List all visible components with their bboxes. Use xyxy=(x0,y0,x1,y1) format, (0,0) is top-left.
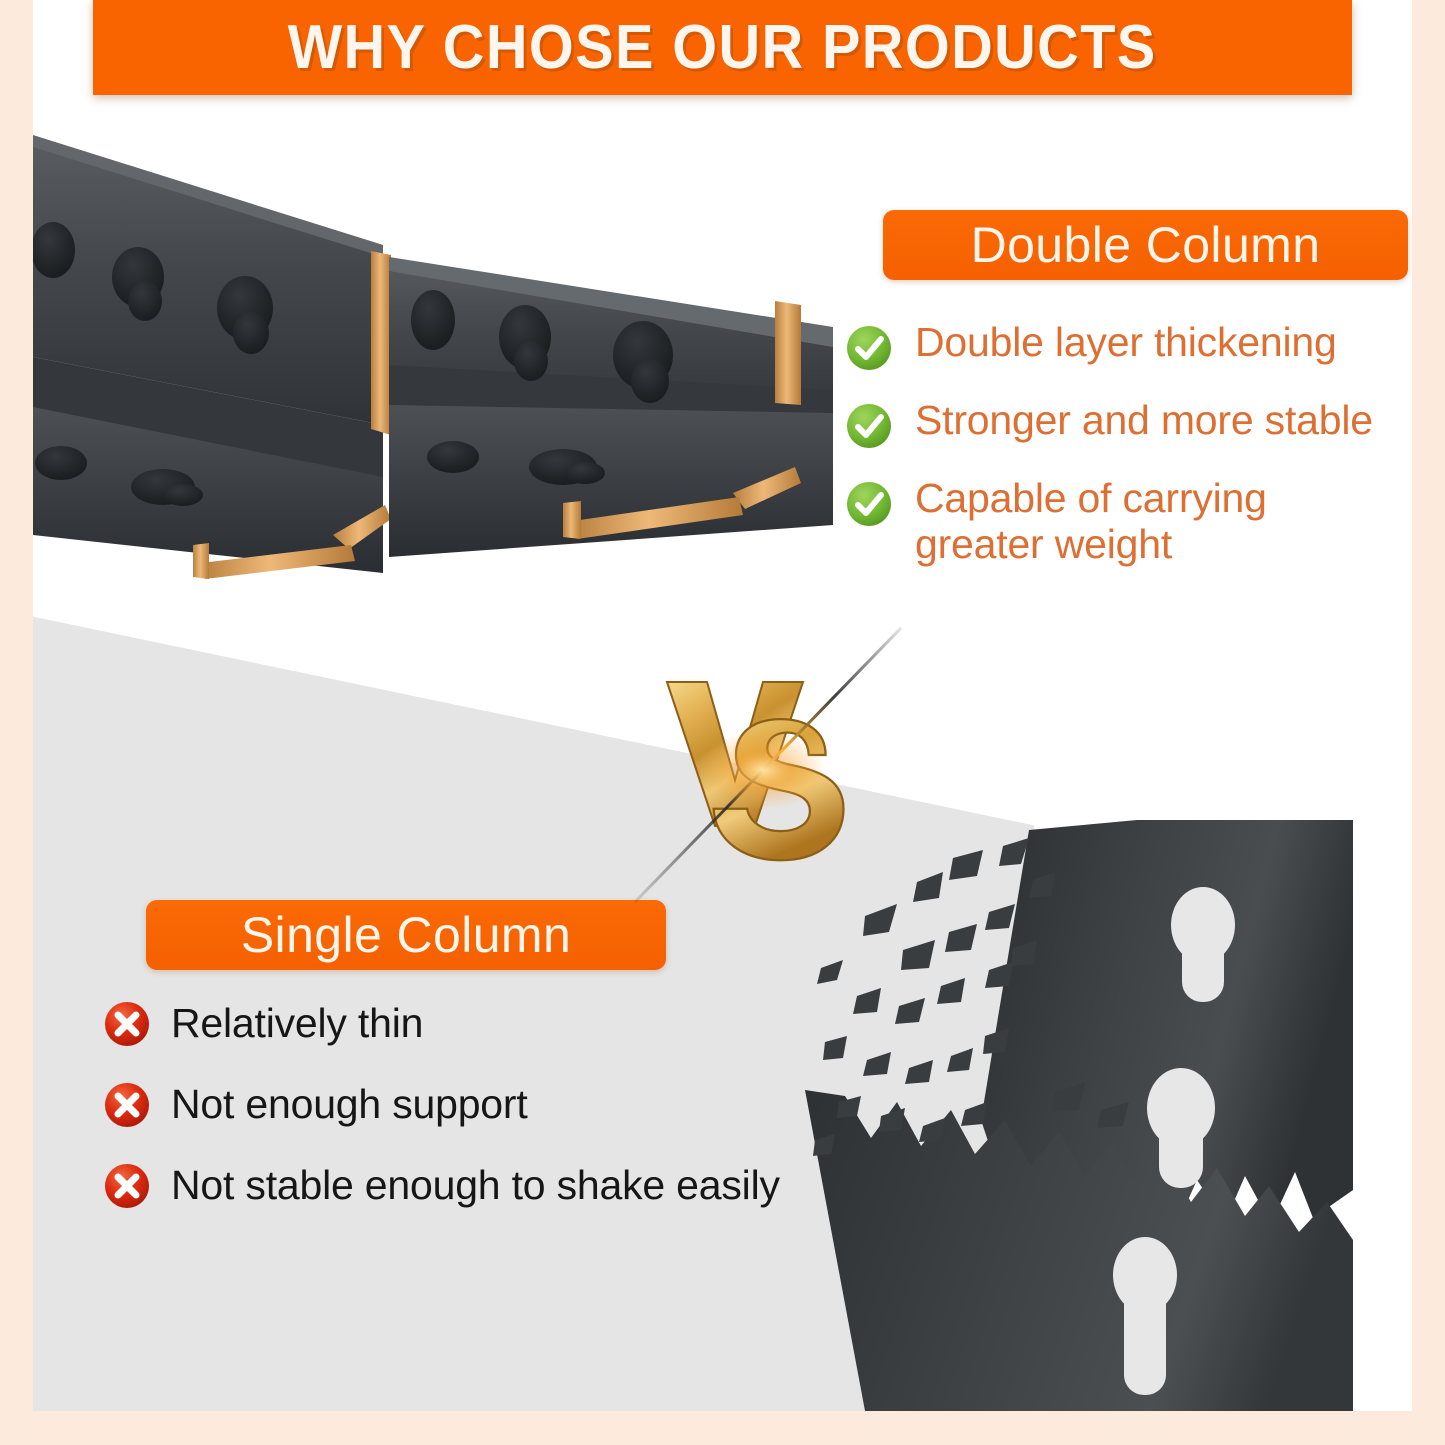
double-beam-illustration xyxy=(33,105,833,625)
list-item-label: Stronger and more stable xyxy=(915,398,1373,444)
page-frame: Double Column Single Column xyxy=(0,0,1445,1445)
double-column-photo xyxy=(33,105,833,625)
list-item-label: Not stable enough to shake easily xyxy=(171,1163,780,1208)
beam-right xyxy=(389,257,833,557)
list-item-label: Not enough support xyxy=(171,1082,528,1127)
vs-flare xyxy=(699,730,827,810)
check-circle-icon xyxy=(845,402,893,450)
list-item: Not enough support xyxy=(103,1081,903,1129)
x-circle-icon xyxy=(103,1081,151,1129)
x-circle-icon xyxy=(103,1000,151,1048)
list-item: Double layer thickening xyxy=(845,320,1412,372)
list-item-label: Double layer thickening xyxy=(915,320,1337,366)
content-canvas: Double Column Single Column xyxy=(33,0,1412,1411)
cons-list: Relatively thin Not enough support xyxy=(103,1000,903,1243)
beam-left xyxy=(33,135,391,579)
list-item: Capable of carrying greater weight xyxy=(845,476,1412,568)
pros-list: Double layer thickening Stronger and mor… xyxy=(845,320,1412,594)
list-item: Not stable enough to shake easily xyxy=(103,1162,903,1210)
single-column-badge[interactable]: Single Column xyxy=(146,900,666,970)
page-title: WHY CHOSE OUR PRODUCTS xyxy=(288,17,1157,79)
x-circle-icon xyxy=(103,1162,151,1210)
list-item: Relatively thin xyxy=(103,1000,903,1048)
single-column-badge-label: Single Column xyxy=(241,910,571,960)
check-circle-icon xyxy=(845,324,893,372)
double-column-badge-label: Double Column xyxy=(971,220,1321,270)
header-banner: WHY CHOSE OUR PRODUCTS xyxy=(93,0,1352,95)
list-item-label: Capable of carrying greater weight xyxy=(915,476,1335,568)
double-column-badge[interactable]: Double Column xyxy=(883,210,1408,280)
list-item: Stronger and more stable xyxy=(845,398,1412,450)
check-circle-icon xyxy=(845,480,893,528)
list-item-label: Relatively thin xyxy=(171,1001,423,1046)
vs-graphic xyxy=(623,620,913,910)
vs-divider xyxy=(633,640,893,890)
